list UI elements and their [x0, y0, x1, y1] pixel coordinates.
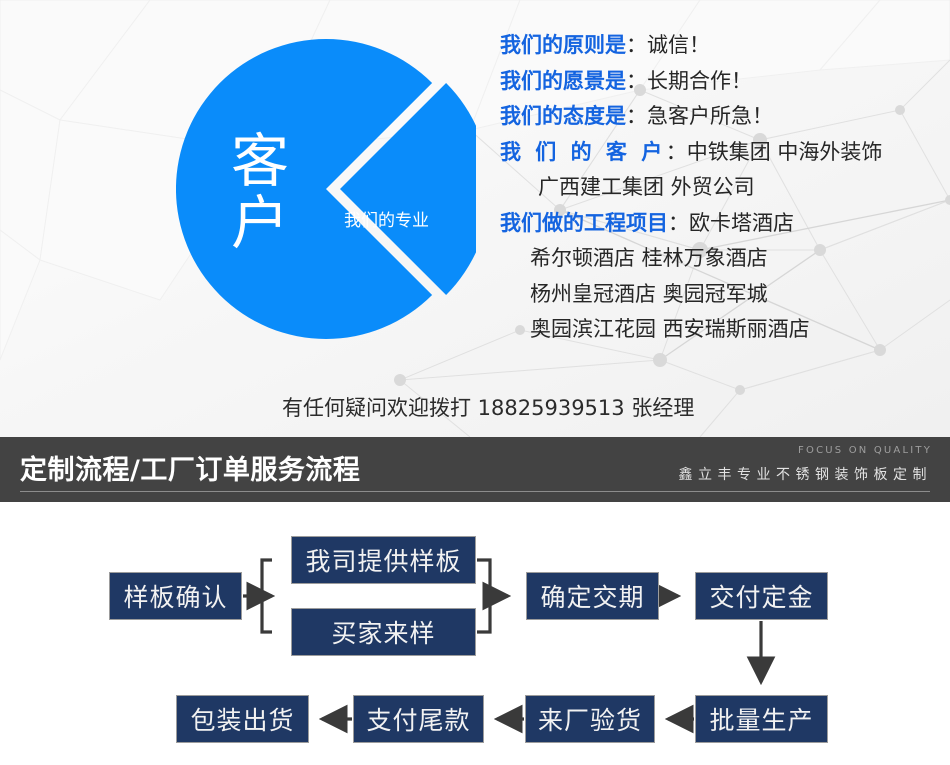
info-line-projects-3: 杨州皇冠酒店 奥园冠军城 — [500, 277, 940, 313]
flow-node-label: 交付定金 — [709, 578, 813, 614]
flow-node-label: 样板确认 — [123, 578, 227, 614]
info-line-clients-cont: 广西建工集团 外贸公司 — [500, 170, 940, 206]
flow-node-confirm-delivery[interactable]: 确定交期 — [526, 572, 659, 620]
flow-node-label: 确定交期 — [540, 578, 644, 614]
company-info-list: 我们的原则是：诚信！ 我们的愿景是：长期合作！ 我们的态度是：急客户所急！ 我 … — [500, 28, 940, 348]
flow-node-buyer-sample[interactable]: 买家来样 — [291, 608, 476, 656]
promo-page: 客户 我们的专业 我们的原则是：诚信！ 我们的愿景是：长期合作！ 我们的态度是：… — [0, 0, 950, 765]
process-flowchart: 样板确认 我司提供样板 买家来样 确定交期 交付定金 批量生产 来厂验货 支付尾… — [0, 502, 950, 765]
flow-node-label: 包装出货 — [190, 701, 294, 737]
info-line-clients: 我 们 的 客 户：中铁集团 中海外装饰 — [500, 135, 940, 171]
info-key: 我们的原则是 — [500, 33, 626, 57]
info-key: 我 们 的 客 户 — [500, 140, 666, 164]
branch-bracket-right — [477, 560, 490, 632]
info-value: ：急客户所急！ — [626, 104, 773, 128]
flow-node-label: 我司提供样板 — [305, 542, 461, 578]
info-value: 奥园滨江花园 西安瑞斯丽酒店 — [530, 317, 810, 341]
pie-center-label: 客户 — [224, 130, 296, 254]
info-line-principle: 我们的原则是：诚信！ — [500, 28, 940, 64]
info-line-projects-2: 希尔顿酒店 桂林万象酒店 — [500, 241, 940, 277]
hero-section: 客户 我们的专业 我们的原则是：诚信！ 我们的愿景是：长期合作！ 我们的态度是：… — [0, 0, 950, 437]
info-value: 广西建工集团 外贸公司 — [538, 175, 755, 199]
banner-divider — [20, 491, 930, 492]
banner-chinese-tagline: 鑫立丰专业不锈钢装饰板定制 — [679, 464, 933, 484]
info-value: ：诚信！ — [626, 33, 710, 57]
flow-node-pay-balance[interactable]: 支付尾款 — [353, 695, 484, 743]
info-value: 杨州皇冠酒店 奥园冠军城 — [530, 282, 768, 306]
flow-node-pack-and-ship[interactable]: 包装出货 — [176, 695, 309, 743]
flow-node-sample-confirm[interactable]: 样板确认 — [109, 572, 242, 620]
info-line-attitude: 我们的态度是：急客户所急！ — [500, 99, 940, 135]
flow-node-label: 来厂验货 — [538, 701, 642, 737]
flow-node-label: 支付尾款 — [366, 701, 470, 737]
info-key: 我们的愿景是 — [500, 69, 626, 93]
pie-wedge-label: 我们的专业 — [344, 206, 429, 231]
info-key: 我们做的工程项目 — [500, 211, 668, 235]
banner-english-tagline: FOCUS ON QUALITY — [798, 445, 932, 456]
info-value: ：欧卡塔酒店 — [668, 211, 794, 235]
pie-chart-svg — [176, 38, 476, 340]
info-value: ：中铁集团 中海外装饰 — [666, 140, 883, 164]
section-banner: 定制流程/工厂订单服务流程 FOCUS ON QUALITY 鑫立丰专业不锈钢装… — [0, 437, 950, 502]
contact-phone-line: 有任何疑问欢迎拨打 18825939513 张经理 — [282, 392, 694, 422]
flow-node-label: 批量生产 — [709, 701, 813, 737]
banner-title: 定制流程/工厂订单服务流程 — [20, 448, 360, 487]
info-line-projects-4: 奥园滨江花园 西安瑞斯丽酒店 — [500, 312, 940, 348]
info-key: 我们的态度是 — [500, 104, 626, 128]
flow-node-label: 买家来样 — [331, 614, 435, 650]
info-line-vision: 我们的愿景是：长期合作！ — [500, 64, 940, 100]
flow-node-we-provide-sample[interactable]: 我司提供样板 — [291, 536, 476, 584]
info-line-projects: 我们做的工程项目：欧卡塔酒店 — [500, 206, 940, 242]
customer-pie-graphic: 客户 我们的专业 — [176, 38, 476, 340]
flow-node-mass-production[interactable]: 批量生产 — [695, 695, 828, 743]
info-value: ：长期合作！ — [626, 69, 752, 93]
info-value: 希尔顿酒店 桂林万象酒店 — [530, 246, 768, 270]
flow-node-factory-inspection[interactable]: 来厂验货 — [525, 695, 655, 743]
flow-node-pay-deposit[interactable]: 交付定金 — [695, 572, 828, 620]
